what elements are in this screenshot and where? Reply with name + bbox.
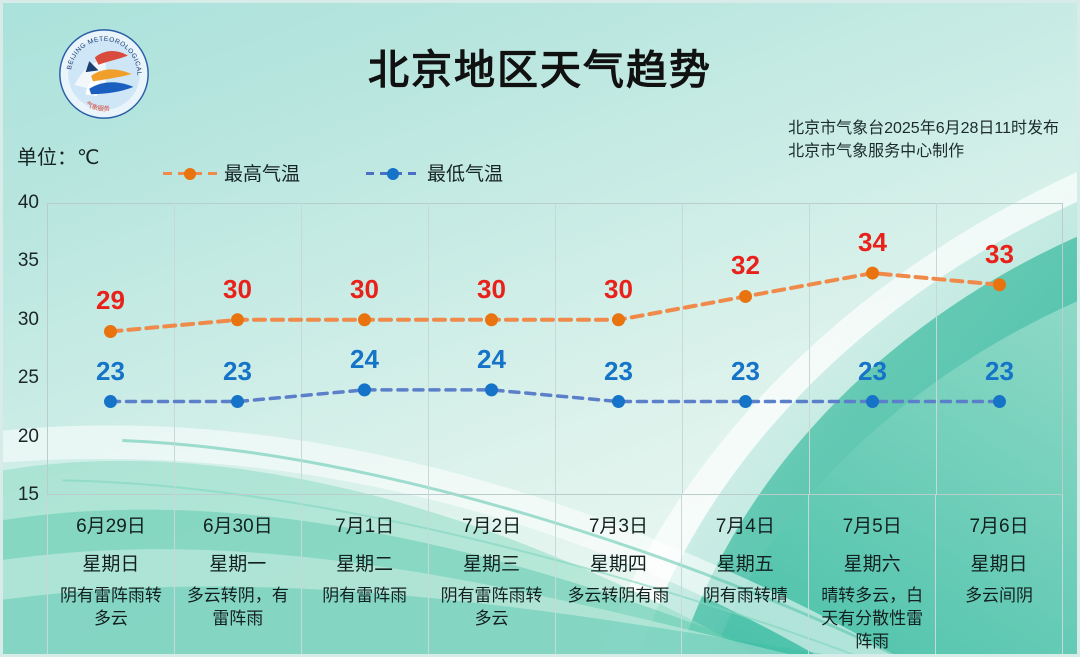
day-date: 6月29日 [48, 511, 174, 538]
value-label-high: 30 [462, 274, 522, 305]
day-weekday: 星期日 [48, 549, 174, 576]
forecast-day-column: 7月4日星期五阴有雨转晴 [681, 495, 808, 657]
day-date: 7月6日 [936, 511, 1062, 538]
day-weekday: 星期三 [429, 549, 555, 576]
day-weekday: 星期日 [936, 549, 1062, 576]
data-point-low [485, 383, 498, 396]
day-weather-description: 晴转多云，白天有分散性雷阵雨 [813, 585, 931, 654]
value-label-low: 24 [462, 344, 522, 375]
forecast-day-columns: 6月29日星期日阴有雷阵雨转多云6月30日星期一多云转阴，有雷阵雨7月1日星期二… [47, 495, 1063, 657]
data-point-high [104, 325, 117, 338]
day-weather-description: 多云间阴 [940, 585, 1058, 608]
value-label-high: 34 [843, 227, 903, 258]
weather-trend-poster: BEIJING METEOROLOGICAL SERVICE 气象服务 北京地区… [0, 0, 1080, 657]
y-axis-tick-25: 25 [18, 367, 39, 389]
legend-low-swatch-icon [366, 166, 420, 180]
y-axis-tick-30: 30 [18, 309, 39, 331]
value-label-high: 30 [589, 274, 649, 305]
day-weekday: 星期一 [175, 549, 301, 576]
y-axis-tick-40: 40 [18, 192, 39, 214]
value-label-low: 23 [970, 356, 1030, 387]
data-point-high [739, 290, 752, 303]
day-date: 7月5日 [809, 511, 935, 538]
legend-low-label: 最低气温 [427, 159, 503, 186]
data-point-high [612, 313, 625, 326]
day-date: 7月2日 [429, 511, 555, 538]
data-point-high [485, 313, 498, 326]
forecast-day-column: 7月6日星期日多云间阴 [935, 495, 1063, 657]
day-weather-description: 阴有雷阵雨转多云 [52, 585, 170, 631]
y-axis-tick-20: 20 [18, 426, 39, 448]
day-weather-description: 多云转阴有雨 [560, 585, 678, 608]
value-label-high: 29 [81, 285, 141, 316]
data-point-low [739, 395, 752, 408]
series-line-low [111, 390, 1000, 402]
day-date: 7月3日 [556, 511, 682, 538]
data-point-low [612, 395, 625, 408]
day-weekday: 星期四 [556, 549, 682, 576]
day-weekday: 星期五 [682, 549, 808, 576]
data-point-low [358, 383, 371, 396]
day-date: 6月30日 [175, 511, 301, 538]
value-label-low: 24 [335, 344, 395, 375]
forecast-day-column: 7月1日星期二阴有雷阵雨 [301, 495, 428, 657]
legend-item-low: 最低气温 [366, 159, 503, 186]
value-label-high: 32 [716, 250, 776, 281]
day-weekday: 星期六 [809, 549, 935, 576]
chart-legend: 最高气温 最低气温 [163, 159, 503, 186]
y-axis-labels: 152025303540 [3, 189, 47, 509]
unit-label: 单位：℃ [17, 141, 99, 170]
data-point-high [358, 313, 371, 326]
data-point-low [866, 395, 879, 408]
data-point-low [104, 395, 117, 408]
value-label-high: 30 [208, 274, 268, 305]
day-weekday: 星期二 [302, 549, 428, 576]
forecast-day-column: 7月5日星期六晴转多云，白天有分散性雷阵雨 [808, 495, 935, 657]
publisher-line-1: 北京市气象台2025年6月28日11时发布 [788, 117, 1059, 140]
value-label-low: 23 [208, 356, 268, 387]
legend-high-label: 最高气温 [224, 159, 300, 186]
page-title: 北京地区天气趋势 [3, 36, 1077, 96]
legend-item-high: 最高气温 [163, 159, 300, 186]
day-weather-description: 阴有雷阵雨 [306, 585, 424, 608]
value-label-low: 23 [716, 356, 776, 387]
value-label-low: 23 [81, 356, 141, 387]
publisher-line-2: 北京市气象服务中心制作 [788, 140, 1059, 163]
value-label-low: 23 [589, 356, 649, 387]
value-label-low: 23 [843, 356, 903, 387]
forecast-day-column: 6月29日星期日阴有雷阵雨转多云 [47, 495, 174, 657]
data-point-high [231, 313, 244, 326]
temperature-chart: 29303030303234332323242423232323 [47, 203, 1063, 495]
value-label-high: 30 [335, 274, 395, 305]
publisher-info: 北京市气象台2025年6月28日11时发布 北京市气象服务中心制作 [788, 117, 1059, 163]
y-axis-tick-15: 15 [18, 484, 39, 506]
day-weather-description: 阴有雷阵雨转多云 [433, 585, 551, 631]
data-point-high [866, 267, 879, 280]
forecast-day-column: 7月3日星期四多云转阴有雨 [555, 495, 682, 657]
value-label-high: 33 [970, 239, 1030, 270]
day-date: 7月1日 [302, 511, 428, 538]
forecast-day-column: 6月30日星期一多云转阴，有雷阵雨 [174, 495, 301, 657]
day-date: 7月4日 [682, 511, 808, 538]
legend-high-swatch-icon [163, 166, 217, 180]
chart-series-layer [47, 203, 1063, 495]
data-point-high [993, 278, 1006, 291]
day-weather-description: 多云转阴，有雷阵雨 [179, 585, 297, 631]
data-point-low [993, 395, 1006, 408]
data-point-low [231, 395, 244, 408]
y-axis-tick-35: 35 [18, 250, 39, 272]
day-weather-description: 阴有雨转晴 [686, 585, 804, 608]
forecast-day-column: 7月2日星期三阴有雷阵雨转多云 [428, 495, 555, 657]
